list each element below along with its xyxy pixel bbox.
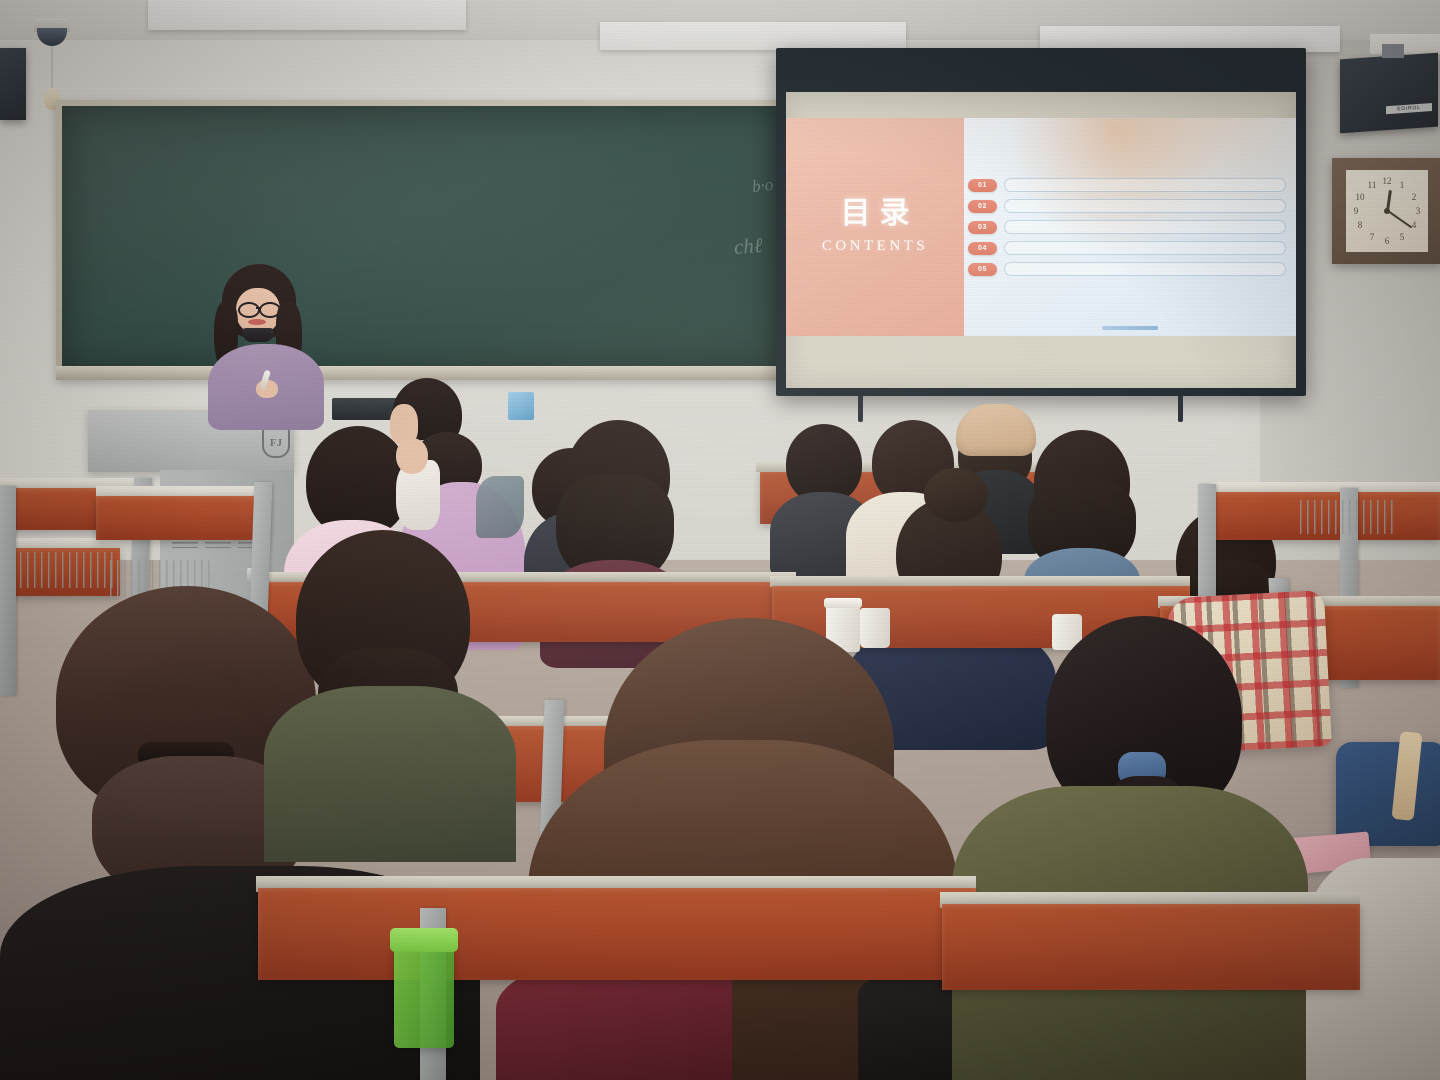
slide-list-item: 01 (968, 176, 1286, 194)
clock-numeral: 1 (1400, 180, 1405, 190)
speaker-left-icon (0, 48, 26, 120)
blackboard: b·o chℓ (62, 106, 780, 368)
ceiling-light (1370, 34, 1440, 54)
slide-item-pill (1004, 178, 1286, 192)
slide-item-pill (1004, 220, 1286, 234)
speaker-brand-label: EDIROL (1386, 103, 1432, 114)
clock-face: 12 1 2 3 4 5 6 7 8 9 10 11 (1346, 170, 1428, 252)
glasses-icon (238, 302, 260, 318)
clock-numeral: 11 (1368, 180, 1377, 190)
clock-center-pin (1384, 208, 1390, 214)
slide-item-pill (1004, 199, 1286, 213)
clock-minute-hand (1387, 210, 1412, 228)
clock-numeral: 6 (1385, 236, 1390, 246)
backpack (1336, 742, 1440, 846)
hair-bun (924, 468, 988, 522)
slide-footer-accent (1102, 326, 1158, 330)
screen-mount-rod (1178, 396, 1183, 422)
seat-post (0, 486, 16, 696)
screen-mount-rod (858, 396, 863, 422)
clock-numeral: 5 (1400, 232, 1405, 242)
thermos-lid (824, 598, 862, 608)
desk-row (96, 496, 268, 540)
ceiling-light (600, 22, 906, 50)
slide-item-number: 03 (968, 221, 997, 234)
presentation-slide: 目录 CONTENTS 01 02 03 (786, 118, 1296, 336)
speaker-bracket (1382, 44, 1404, 58)
slide-list-item: 04 (968, 239, 1286, 257)
clock-numeral: 8 (1358, 220, 1363, 230)
green-bottle-lid[interactable] (390, 928, 458, 952)
clock-numeral: 9 (1354, 206, 1359, 216)
white-cup[interactable] (860, 608, 890, 648)
projection-screen: 目录 CONTENTS 01 02 03 (786, 92, 1296, 388)
slide-item-pill (1004, 262, 1286, 276)
glasses-bridge (256, 307, 260, 309)
desk-row (258, 888, 976, 980)
student-hand (396, 438, 428, 474)
chalk-mark: b·o (751, 175, 774, 197)
slide-list-item: 03 (968, 218, 1286, 236)
lips (248, 319, 266, 325)
slide-title-cn: 目录 (832, 199, 919, 229)
clock-numeral: 12 (1383, 176, 1392, 186)
speaker-right-icon: EDIROL (1340, 53, 1438, 134)
university-emblem-icon: FJ (262, 428, 290, 458)
blue-bottle[interactable] (508, 392, 534, 420)
clock-numeral: 10 (1356, 192, 1365, 202)
clock-numeral: 3 (1416, 206, 1421, 216)
slide-content-panel: 01 02 03 04 (964, 118, 1296, 336)
face-mask-icon[interactable] (242, 328, 274, 342)
slide-item-number: 01 (968, 179, 997, 192)
green-bottle[interactable] (394, 938, 454, 1048)
desk-row (942, 904, 1360, 990)
slide-item-pill (1004, 241, 1286, 255)
clock-numeral: 7 (1370, 232, 1375, 242)
slide-item-number: 05 (968, 263, 997, 276)
book-rack (1300, 500, 1396, 534)
graphic-print-icon (476, 476, 524, 538)
slide-list-item: 05 (968, 260, 1286, 278)
slide-item-number: 02 (968, 200, 997, 213)
clock-numeral: 4 (1412, 220, 1417, 230)
slide-item-number: 04 (968, 242, 997, 255)
book-rack (20, 552, 118, 588)
slide-title-panel: 目录 CONTENTS (786, 118, 964, 336)
slide-title-en: CONTENTS (822, 238, 928, 255)
clock-numeral: 2 (1412, 192, 1417, 202)
slide-list-item: 02 (968, 197, 1286, 215)
chalk-mark: chℓ (733, 233, 763, 260)
ceiling-light (148, 0, 466, 30)
classroom-photo: EDIROL b·o chℓ 目录 CONTENTS 01 (0, 0, 1440, 1080)
presenter (206, 262, 326, 422)
beanie-hat (956, 404, 1036, 456)
camera-cable (51, 46, 53, 92)
student-body (264, 686, 516, 862)
